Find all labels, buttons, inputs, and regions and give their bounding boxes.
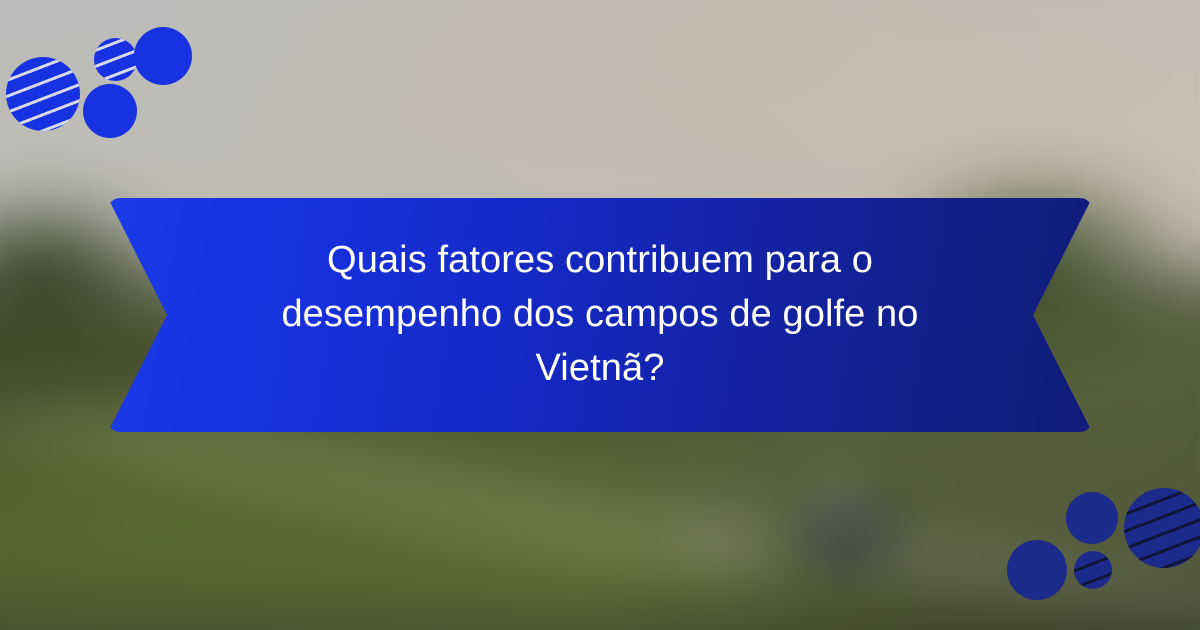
circle-plain-medium-icon <box>83 84 137 138</box>
circle-plain-large-icon <box>134 27 192 85</box>
headline-ribbon: Quais fatores contribuem para o desempen… <box>108 198 1092 432</box>
circle-striped-large-icon <box>6 57 80 131</box>
circle-striped-large-icon <box>1124 488 1200 568</box>
banner-card: Quais fatores contribuem para o desempen… <box>0 0 1200 630</box>
background-bunker <box>0 413 758 578</box>
circle-plain-medium-icon <box>1066 492 1118 544</box>
circle-plain-left-icon <box>1007 540 1067 600</box>
background-cart-roof <box>811 480 864 518</box>
headline-text: Quais fatores contribuem para o desempen… <box>235 234 965 396</box>
circle-striped-small-icon <box>94 38 137 81</box>
circle-striped-small-icon <box>1074 551 1112 589</box>
